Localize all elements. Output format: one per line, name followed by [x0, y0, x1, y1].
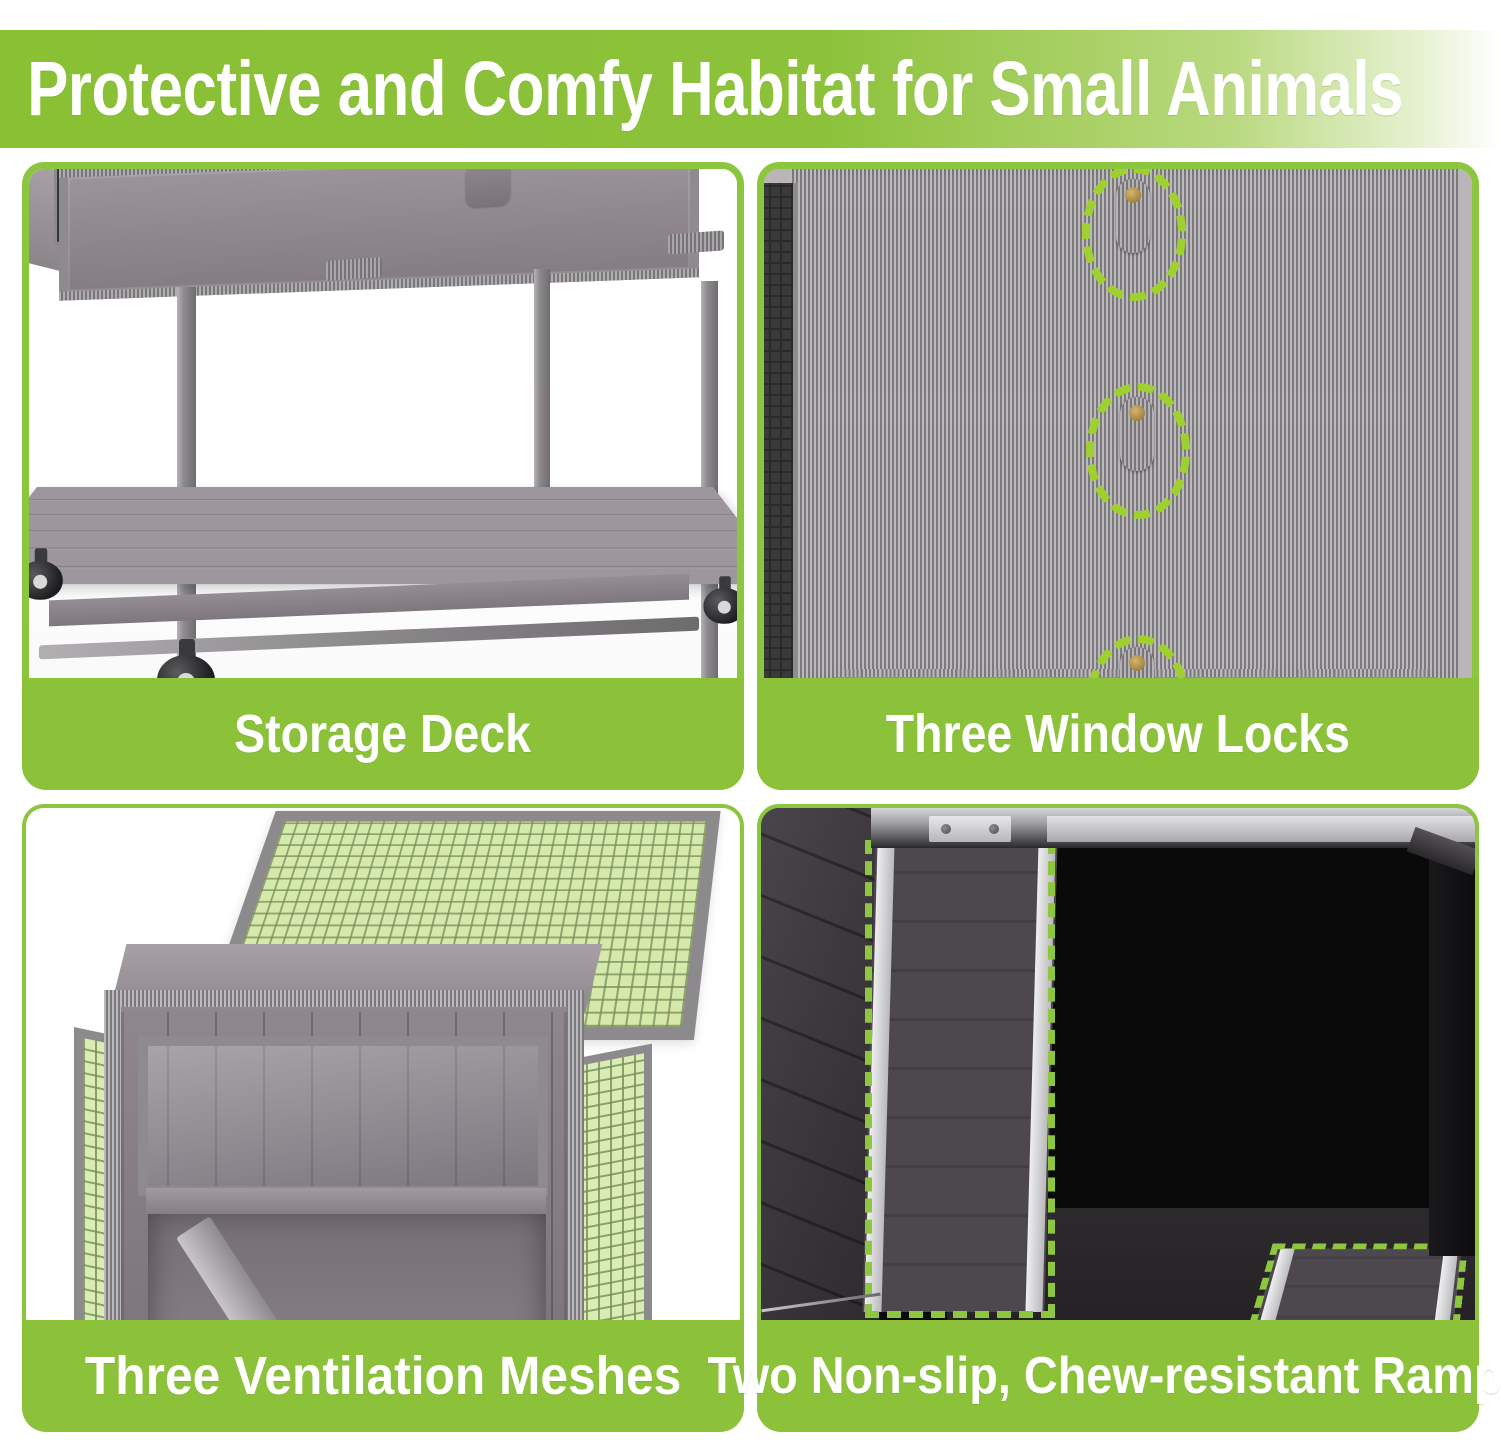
window-lock-latch[interactable]: [1120, 397, 1154, 471]
header-banner: Protective and Comfy Habitat for Small A…: [0, 30, 1500, 148]
caption-label: Three Ventilation Meshes: [85, 1349, 681, 1403]
feature-card-storage-deck: Storage Deck: [22, 162, 744, 790]
hinge-icon: [326, 257, 382, 281]
infographic-root: Protective and Comfy Habitat for Small A…: [0, 0, 1500, 1443]
caption-band-ramps: Two Non-slip, Chew-resistant Ramps: [757, 1320, 1479, 1432]
photo-storage-deck: [22, 162, 744, 678]
caption-label: Three Window Locks: [886, 707, 1350, 761]
window-lock-latch[interactable]: [1116, 179, 1150, 253]
feature-card-ramps: Two Non-slip, Chew-resistant Ramps: [757, 804, 1479, 1432]
hutch-side-wall: [761, 808, 879, 1320]
hutch-frame: [104, 990, 584, 1320]
caster-wheel: [157, 639, 217, 678]
caster-wheel: [703, 576, 737, 624]
hinge-icon: [668, 230, 724, 254]
mounting-plate: [929, 816, 1011, 842]
storage-deck-slats: [29, 487, 737, 584]
caption-band-window-locks: Three Window Locks: [757, 678, 1479, 790]
photo-ramps: [757, 804, 1479, 1320]
caption-band-storage-deck: Storage Deck: [22, 678, 744, 790]
caster-wheel: [29, 548, 64, 599]
feature-card-window-locks: Three Window Locks: [757, 162, 1479, 790]
photo-ventilation-meshes: [22, 804, 744, 1320]
feature-grid: Storage Deck: [0, 162, 1500, 1443]
hutch-inner-right-wall: [1429, 836, 1475, 1256]
feature-card-ventilation: Three Ventilation Meshes: [22, 804, 744, 1432]
side-mesh-panel: [764, 183, 798, 678]
page-title: Protective and Comfy Habitat for Small A…: [0, 51, 1403, 128]
photo-window-locks: [757, 162, 1479, 678]
caption-label: Storage Deck: [235, 707, 532, 761]
window-lock-latch[interactable]: [1120, 647, 1154, 678]
door-handle: [466, 169, 510, 208]
caption-band-ventilation: Three Ventilation Meshes: [22, 1320, 744, 1432]
caption-label: Two Non-slip, Chew-resistant Ramps: [708, 1350, 1500, 1402]
ramp-highlight-box: [865, 840, 1055, 1318]
